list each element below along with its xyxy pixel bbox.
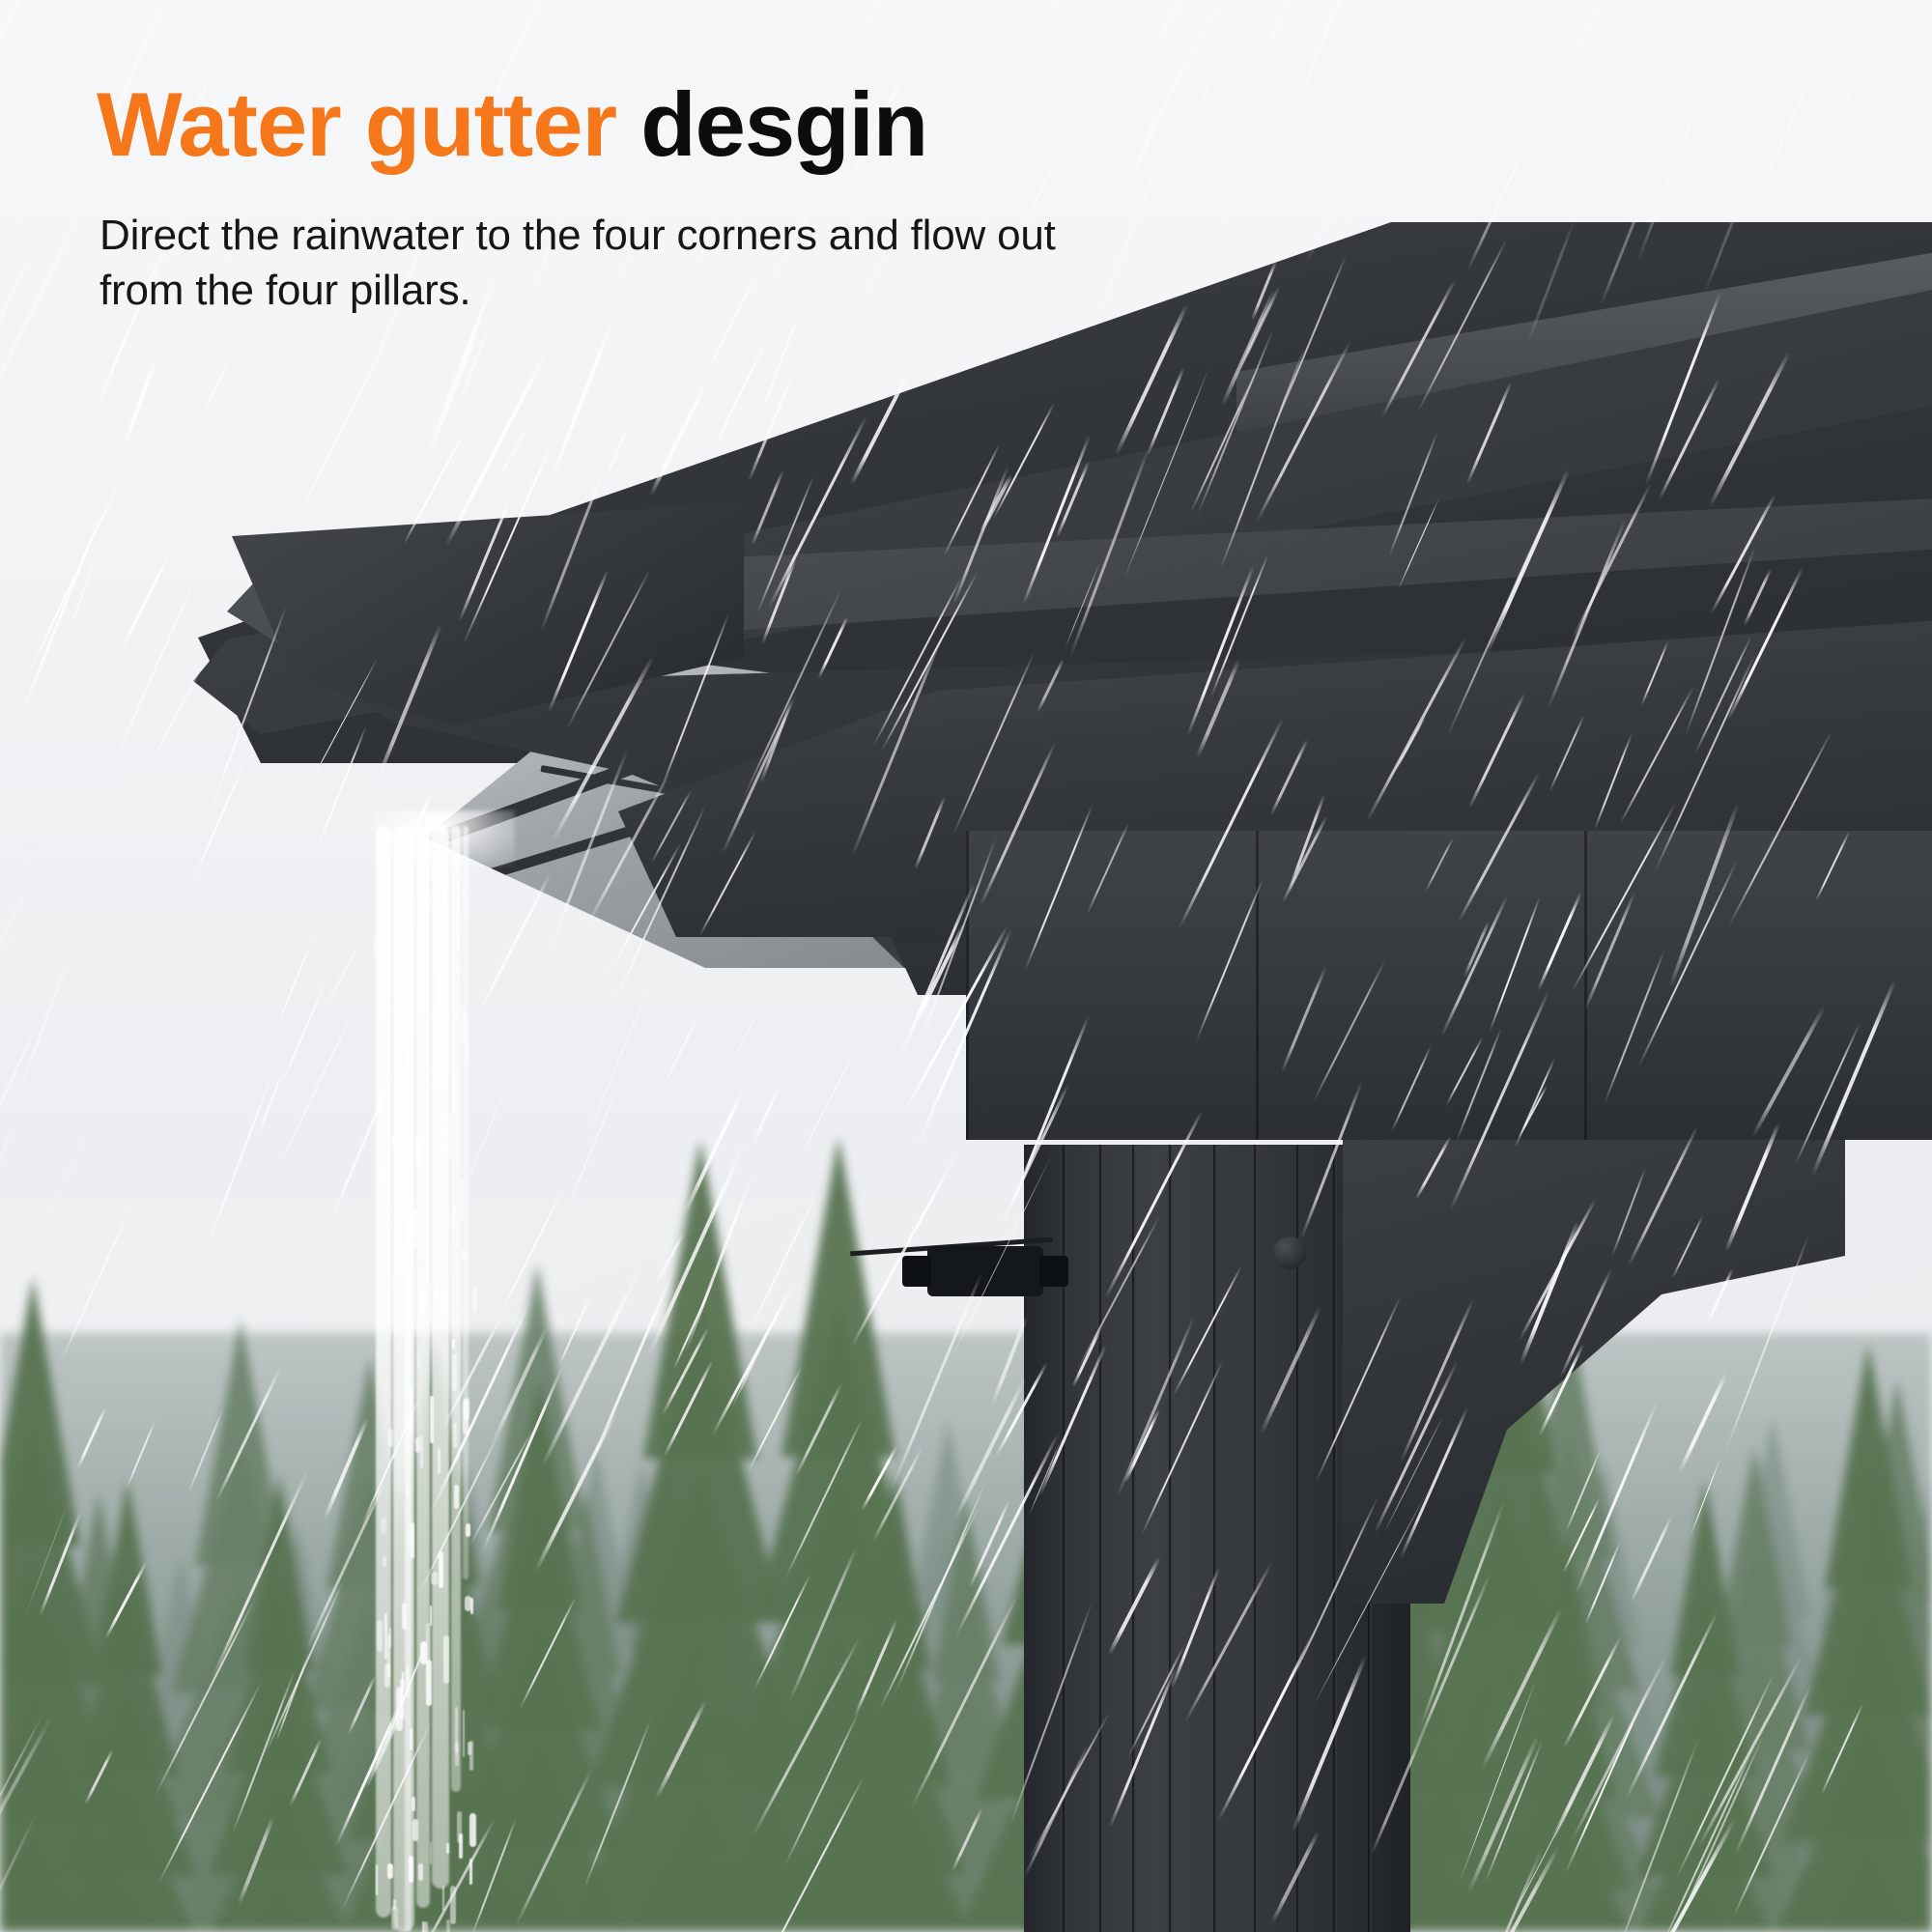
- water-fleck: [439, 1551, 443, 1587]
- post-groove: [1132, 1145, 1136, 1932]
- water-fleck: [430, 1605, 432, 1626]
- water-fleck: [377, 1620, 383, 1652]
- water-fleck: [383, 1556, 386, 1567]
- water-fleck: [408, 1219, 412, 1247]
- post-groove: [1169, 1145, 1173, 1932]
- water-fleck: [426, 1660, 432, 1706]
- subtitle-line-2: from the four pillars.: [99, 263, 1104, 318]
- headline-dark-text: [616, 73, 640, 175]
- water-fleck: [446, 1843, 449, 1854]
- water-fleck: [379, 1170, 384, 1180]
- water-fleck: [418, 1863, 423, 1881]
- water-fleck: [388, 1429, 393, 1447]
- water-fleck: [415, 1137, 421, 1166]
- water-fleck: [466, 1523, 470, 1536]
- water-fleck: [461, 1179, 463, 1221]
- water-fleck: [457, 1811, 462, 1843]
- water-fleck: [446, 1113, 452, 1158]
- water-stream: [372, 826, 478, 1932]
- water-fleck: [402, 1603, 407, 1630]
- water-fleck: [417, 1350, 420, 1368]
- water-fleck: [393, 1899, 397, 1910]
- post-groove: [1254, 1145, 1258, 1932]
- water-fleck: [461, 1247, 468, 1262]
- post-bracket-hardware: [927, 1246, 1043, 1296]
- water-fleck: [409, 1856, 413, 1883]
- water-fleck: [389, 1628, 391, 1648]
- water-fleck: [415, 1437, 421, 1453]
- water-fleck: [464, 1398, 469, 1419]
- water-fleck: [455, 1742, 459, 1767]
- water-fleck: [442, 959, 446, 1003]
- fascia-seam: [1256, 831, 1259, 1140]
- water-fleck: [438, 1448, 440, 1473]
- water-fleck: [404, 1069, 409, 1082]
- water-fleck: [424, 895, 428, 912]
- water-fleck: [374, 937, 376, 957]
- water-fleck: [412, 1819, 419, 1841]
- water-fleck: [411, 1522, 415, 1558]
- water-fleck: [452, 1073, 457, 1110]
- water-fleck: [413, 1208, 416, 1248]
- corner-brace: [1343, 1140, 1845, 1604]
- water-fleck: [419, 1286, 425, 1319]
- water-stream-band: [463, 826, 469, 1579]
- water-fleck: [410, 1728, 413, 1749]
- water-stream-band: [376, 826, 391, 1918]
- water-fleck: [469, 1859, 473, 1885]
- water-stream-band: [405, 826, 412, 1932]
- water-fleck: [452, 1354, 457, 1391]
- water-fleck: [378, 936, 382, 950]
- post-groove: [1213, 1145, 1217, 1932]
- water-fleck: [453, 1423, 457, 1448]
- water-fleck: [461, 1008, 466, 1043]
- water-fleck: [410, 1388, 413, 1435]
- water-fleck: [450, 1886, 456, 1924]
- water-fleck: [454, 1485, 459, 1509]
- fascia-seam: [966, 831, 969, 1140]
- water-fleck: [388, 1194, 390, 1205]
- subtitle: Direct the rainwater to the four corners…: [99, 208, 1104, 318]
- page-title: Water gutter desgin: [97, 77, 927, 173]
- water-fleck: [443, 1635, 450, 1684]
- water-fleck: [468, 1742, 471, 1755]
- water-fleck: [397, 1058, 401, 1084]
- lower-fascia-band: [966, 831, 1932, 1140]
- water-fleck: [431, 1572, 437, 1585]
- water-fleck: [466, 1019, 469, 1066]
- product-marketing-image: Water gutter desgin Direct the rainwater…: [0, 0, 1932, 1932]
- water-fleck: [420, 1435, 424, 1468]
- water-fleck: [438, 970, 443, 1005]
- water-fleck: [452, 1339, 455, 1350]
- water-fleck: [470, 1598, 473, 1614]
- post-groove: [1099, 1145, 1103, 1932]
- water-fleck: [472, 1285, 477, 1313]
- water-fleck: [406, 1485, 411, 1497]
- water-fleck: [469, 1813, 476, 1847]
- water-fleck: [387, 1863, 394, 1879]
- water-fleck: [441, 1289, 448, 1317]
- water-stream-band: [451, 826, 461, 1792]
- water-fleck: [406, 1665, 409, 1698]
- water-fleck: [379, 1094, 381, 1116]
- water-fleck: [441, 887, 448, 904]
- post-bolt: [1273, 1236, 1306, 1269]
- water-fleck: [442, 1886, 444, 1911]
- water-fleck: [422, 1921, 425, 1932]
- post-groove: [1333, 1145, 1337, 1932]
- water-fleck: [435, 1283, 438, 1296]
- water-fleck: [412, 1797, 416, 1811]
- fascia-seam: [1584, 831, 1587, 1140]
- water-fleck: [392, 1135, 395, 1146]
- water-fleck: [430, 1842, 433, 1865]
- subtitle-line-1: Direct the rainwater to the four corners…: [99, 208, 1104, 263]
- water-fleck: [463, 1710, 466, 1757]
- water-fleck: [465, 1596, 471, 1612]
- water-fleck: [430, 1396, 434, 1444]
- water-fleck: [381, 1518, 386, 1534]
- water-fleck: [396, 1687, 403, 1731]
- headline-dark-word: desgin: [640, 73, 927, 175]
- headline-accent-text: Water gutter: [97, 73, 616, 175]
- water-fleck: [384, 1613, 387, 1660]
- water-fleck: [384, 1663, 391, 1688]
- water-fleck: [384, 1159, 389, 1182]
- water-fleck: [402, 1672, 404, 1690]
